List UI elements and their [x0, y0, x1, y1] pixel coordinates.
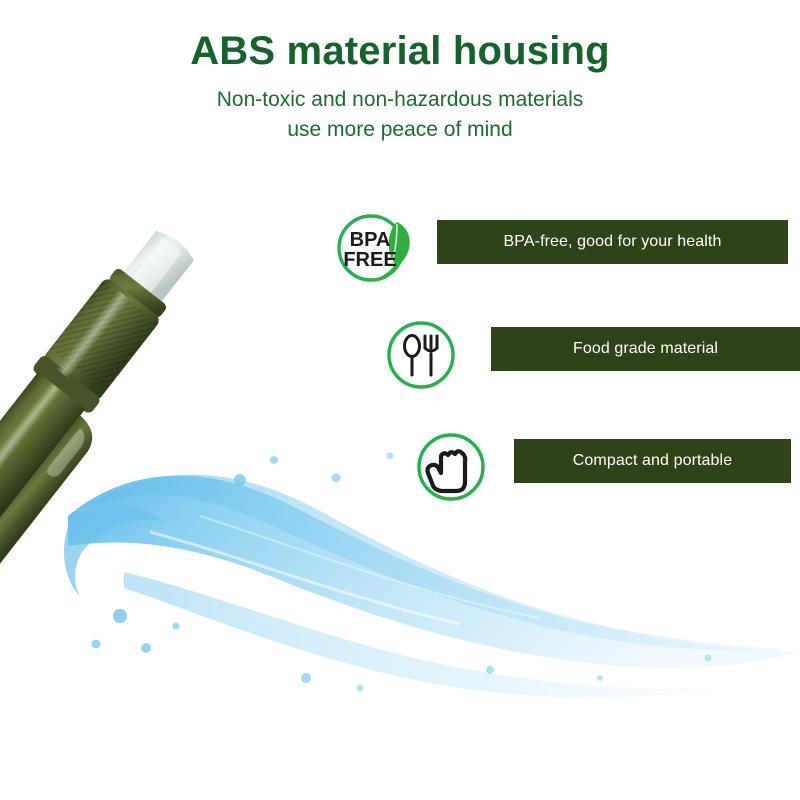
feature-label-food-grade: Food grade material: [573, 340, 718, 358]
page-subtitle: Non-toxic and non-hazardous materials us…: [0, 74, 800, 146]
page-title: ABS material housing: [0, 0, 800, 74]
spoon-icon: [405, 336, 420, 376]
holding-hand-icon: [410, 427, 496, 507]
subtitle-line-2: use more peace of mind: [0, 115, 800, 145]
feature-bar-food-grade: Food grade material: [491, 327, 800, 371]
feature-bar-bpa-free: BPA-free, good for your health: [437, 220, 788, 264]
feature-label-bpa-free: BPA-free, good for your health: [504, 233, 722, 251]
subtitle-line-1: Non-toxic and non-hazardous materials: [0, 85, 800, 115]
hand-grip-icon: [428, 451, 466, 491]
bpa-badge-line-2: FREE: [343, 249, 396, 271]
bpa-badge-line-1: BPA: [350, 229, 391, 251]
product-feature-page: ABS material housing Non-toxic and non-h…: [0, 0, 800, 800]
bpa-free-badge-icon: BPA FREE: [334, 208, 420, 288]
spoon-fork-icon: [380, 315, 466, 395]
headings-block: ABS material housing Non-toxic and non-h…: [0, 0, 800, 146]
feature-label-compact-portable: Compact and portable: [573, 452, 732, 470]
fork-icon: [425, 336, 437, 375]
feature-bar-compact-portable: Compact and portable: [514, 439, 791, 483]
